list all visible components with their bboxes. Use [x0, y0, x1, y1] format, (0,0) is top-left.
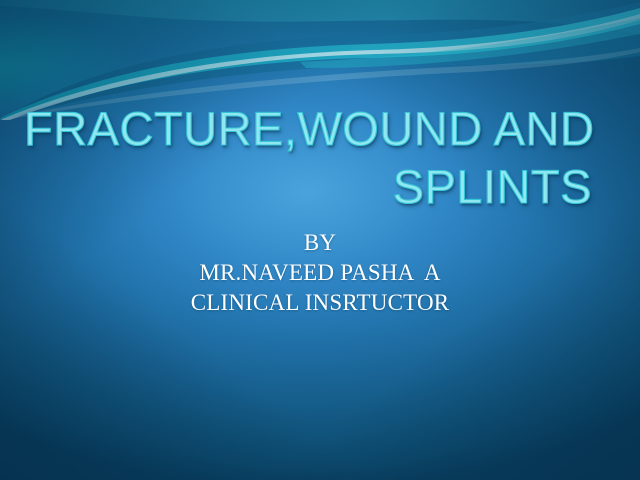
title-slide: FRACTURE,WOUND AND SPLINTS BY MR.NAVEED …: [0, 0, 640, 480]
slide-subtitle-line-1: BY: [60, 228, 580, 258]
slide-subtitle-line-3: CLINICAL INSRTUCTOR: [60, 288, 580, 318]
slide-title-line-2: SPLINTS: [24, 158, 592, 216]
slide-title: FRACTURE,WOUND AND SPLINTS: [24, 100, 592, 216]
slide-subtitle: BY MR.NAVEED PASHA A CLINICAL INSRTUCTOR: [60, 228, 580, 318]
slide-subtitle-line-2: MR.NAVEED PASHA A: [60, 258, 580, 288]
slide-title-line-1: FRACTURE,WOUND AND: [24, 100, 592, 158]
